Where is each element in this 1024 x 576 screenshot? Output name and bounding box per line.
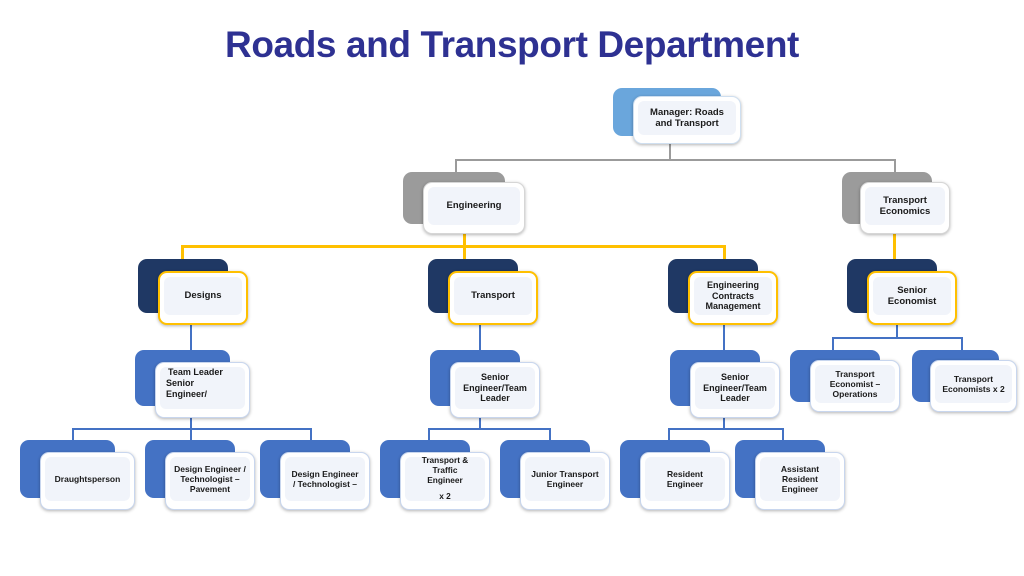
node-label: Design Engineer / Technologist – (291, 469, 358, 489)
node-inner: Transport (454, 277, 532, 315)
node-label: Transport Economist – Operations (830, 369, 881, 399)
node-card: Assistant Resident Engineer (755, 452, 845, 510)
connector-economist-ops-drop (832, 337, 834, 351)
node-card: Senior Engineer/ Team Leader (155, 362, 250, 418)
node-label: Manager: Roads and Transport (650, 107, 724, 129)
node-manager-roads-transport[interactable]: Manager: Roads and Transport (613, 88, 741, 144)
node-card: Junior Transport Engineer (520, 452, 610, 510)
node-label: Senior Economist (888, 285, 937, 307)
node-label: Resident Engineer (667, 469, 703, 489)
node-card: Transport (448, 271, 538, 325)
node-label-line2-overlap-a: Engineer/ (166, 389, 239, 400)
node-draughtsperson[interactable]: Draughtsperson (20, 440, 135, 510)
node-label: Transport Economics (880, 195, 931, 217)
node-inner: Design Engineer / Technologist – (285, 457, 365, 501)
node-assistant-resident-engineer[interactable]: Assistant Resident Engineer (735, 440, 845, 510)
node-label-count: x 2 (439, 492, 451, 502)
node-transport-senior-engineer-team-leader[interactable]: Senior Engineer/Team Leader (430, 350, 540, 418)
node-inner: Engineering Contracts Management (694, 277, 772, 315)
connector-manager-bus (455, 159, 896, 161)
node-label-line2: Engineer (427, 476, 463, 486)
node-card: Senior Engineer/Team Leader (690, 362, 780, 418)
node-designs[interactable]: Designs (138, 259, 248, 325)
node-label: Engineering Contracts Management (705, 280, 760, 312)
node-card: Engineering Contracts Management (688, 271, 778, 325)
node-label: Transport (471, 290, 515, 301)
node-inner: Senior Economist (873, 277, 951, 315)
org-chart-canvas: Roads and Transport Department Man (0, 0, 1024, 576)
connector-designs-to-lead (190, 324, 192, 352)
node-inner: Engineering (428, 187, 520, 225)
node-transport-traffic-engineer[interactable]: Transport & Traffic Engineer x 2 (380, 440, 490, 510)
node-label: Designs (185, 290, 222, 301)
node-designs-senior-engineer-team-leader[interactable]: Senior Engineer/ Team Leader (135, 350, 250, 418)
node-card: Senior Engineer/Team Leader (450, 362, 540, 418)
node-label: Junior Transport Engineer (531, 469, 599, 489)
overlapping-label-stack: Senior Engineer/ Team Leader (166, 378, 239, 399)
node-label: Draughtsperson (55, 474, 121, 484)
connector-economist-stem (896, 324, 898, 338)
node-junior-transport-engineer[interactable]: Junior Transport Engineer (500, 440, 610, 510)
node-inner: Junior Transport Engineer (525, 457, 605, 501)
node-inner: Manager: Roads and Transport (638, 101, 736, 135)
node-card: Senior Economist (867, 271, 957, 325)
connector-senior-economist-stem (893, 233, 896, 261)
node-inner: Resident Engineer (645, 457, 725, 501)
node-card: Transport Economists x 2 (930, 360, 1017, 412)
node-card: Transport & Traffic Engineer x 2 (400, 452, 490, 510)
node-resident-engineer[interactable]: Resident Engineer (620, 440, 730, 510)
node-inner: Assistant Resident Engineer (760, 457, 840, 501)
node-contracts-senior-engineer-team-leader[interactable]: Senior Engineer/Team Leader (670, 350, 780, 418)
node-label: Senior Engineer/Team Leader (463, 372, 527, 404)
node-inner: Designs (164, 277, 242, 315)
node-engineering-contracts-management[interactable]: Engineering Contracts Management (668, 259, 778, 325)
connector-economist-bus (832, 337, 963, 339)
node-card: Manager: Roads and Transport (633, 96, 741, 144)
node-inner: Senior Engineer/Team Leader (695, 367, 775, 409)
node-card: Designs (158, 271, 248, 325)
node-inner: Transport Economics (865, 187, 945, 225)
node-engineering[interactable]: Engineering (403, 172, 525, 234)
node-label-line2-overlap-b: Team Leader (168, 367, 239, 378)
node-inner: Transport Economists x 2 (935, 365, 1012, 403)
node-label-line1: Senior (166, 378, 239, 389)
page-title: Roads and Transport Department (0, 24, 1024, 66)
node-label-line1: Transport & Traffic (409, 456, 481, 476)
node-inner: Transport & Traffic Engineer x 2 (405, 457, 485, 501)
node-label: Assistant Resident Engineer (781, 464, 819, 494)
connector-manager-stem (669, 142, 671, 160)
node-inner: Design Engineer / Technologist – Pavemen… (170, 457, 250, 501)
node-design-engineer-technologist[interactable]: Design Engineer / Technologist – (260, 440, 370, 510)
connector-transport-to-lead (479, 324, 481, 352)
node-card: Transport Economics (860, 182, 950, 234)
node-card: Design Engineer / Technologist – Pavemen… (165, 452, 255, 510)
connector-contracts-to-lead (723, 324, 725, 352)
node-inner: Transport Economist – Operations (815, 365, 895, 403)
node-transport[interactable]: Transport (428, 259, 538, 325)
node-inner: Draughtsperson (45, 457, 130, 501)
node-design-engineer-technologist-pavement[interactable]: Design Engineer / Technologist – Pavemen… (145, 440, 255, 510)
connector-economists-x2-drop (961, 337, 963, 351)
node-card: Resident Engineer (640, 452, 730, 510)
node-inner: Senior Engineer/ Team Leader (160, 367, 245, 409)
node-card: Transport Economist – Operations (810, 360, 900, 412)
connector-transport-children-bus (428, 428, 551, 430)
connector-level3-bus (181, 245, 726, 248)
node-senior-economist[interactable]: Senior Economist (847, 259, 957, 325)
node-transport-economist-operations[interactable]: Transport Economist – Operations (790, 350, 900, 412)
node-transport-economists-x2[interactable]: Transport Economists x 2 (912, 350, 1017, 412)
node-label: Transport Economists x 2 (942, 374, 1004, 394)
node-label: Senior Engineer/Team Leader (703, 372, 767, 404)
connector-contracts-children-bus (668, 428, 784, 430)
node-label: Engineering (447, 200, 502, 211)
node-card: Design Engineer / Technologist – (280, 452, 370, 510)
node-card: Engineering (423, 182, 525, 234)
node-card: Draughtsperson (40, 452, 135, 510)
node-inner: Senior Engineer/Team Leader (455, 367, 535, 409)
connector-designs-children-bus (72, 428, 312, 430)
node-label: Design Engineer / Technologist – Pavemen… (174, 464, 246, 494)
node-transport-economics[interactable]: Transport Economics (842, 172, 950, 234)
